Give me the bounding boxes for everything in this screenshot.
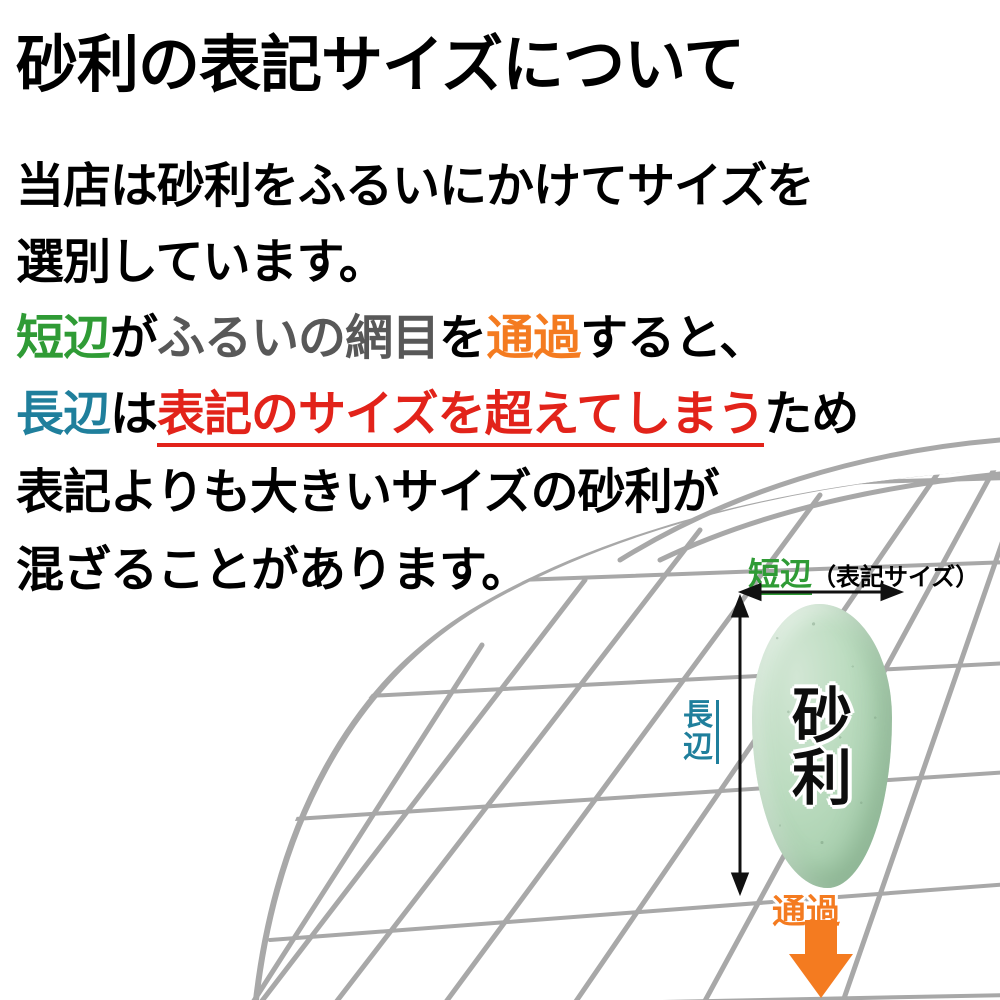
pass-through-arrow: [789, 920, 853, 998]
long-side-arrow: [733, 598, 747, 892]
short-side-arrow: [742, 585, 900, 599]
dimension-arrows: [0, 0, 1000, 1000]
